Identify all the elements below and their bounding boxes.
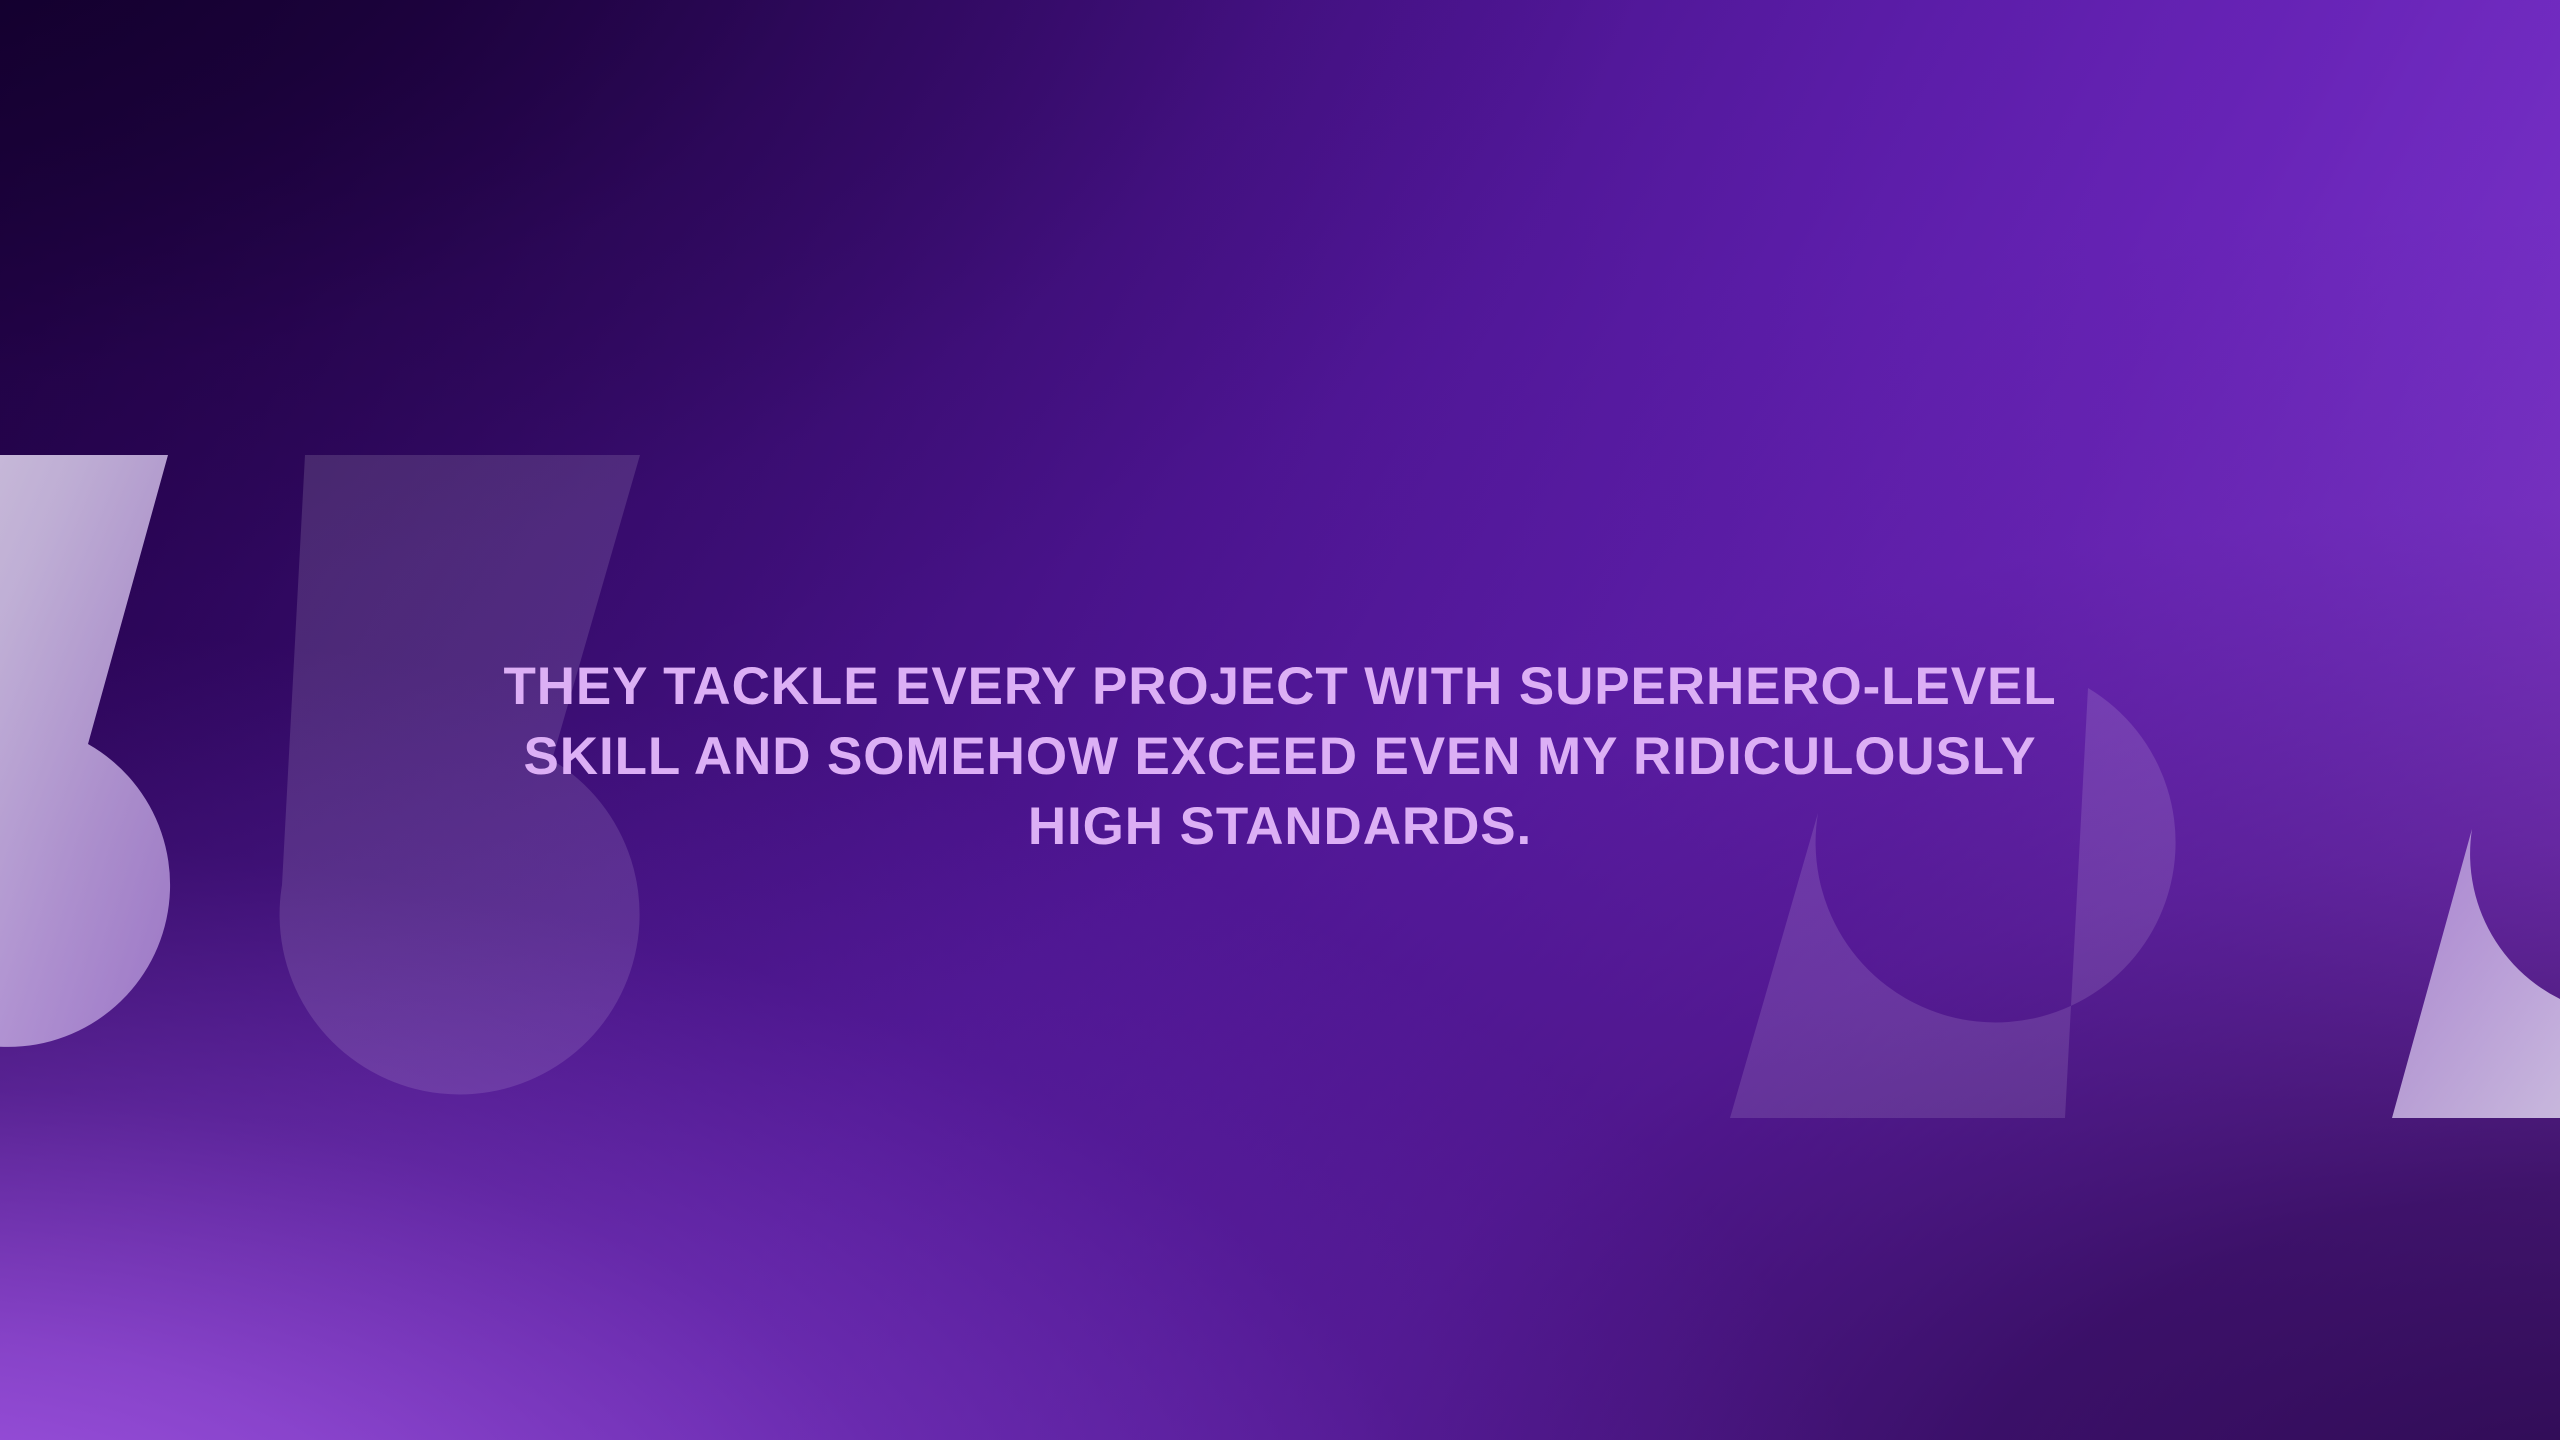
quote-text-block: THEY TACKLE EVERY PROJECT WITH SUPERHERO… bbox=[0, 652, 2560, 862]
quote-line-1: THEY TACKLE EVERY PROJECT WITH SUPERHERO… bbox=[503, 652, 2056, 722]
testimonial-quote-slide: THEY TACKLE EVERY PROJECT WITH SUPERHERO… bbox=[0, 0, 2560, 1440]
quote-line-3: HIGH STANDARDS. bbox=[1028, 792, 1532, 862]
quote-line-2: SKILL AND SOMEHOW EXCEED EVEN MY RIDICUL… bbox=[524, 722, 2037, 792]
